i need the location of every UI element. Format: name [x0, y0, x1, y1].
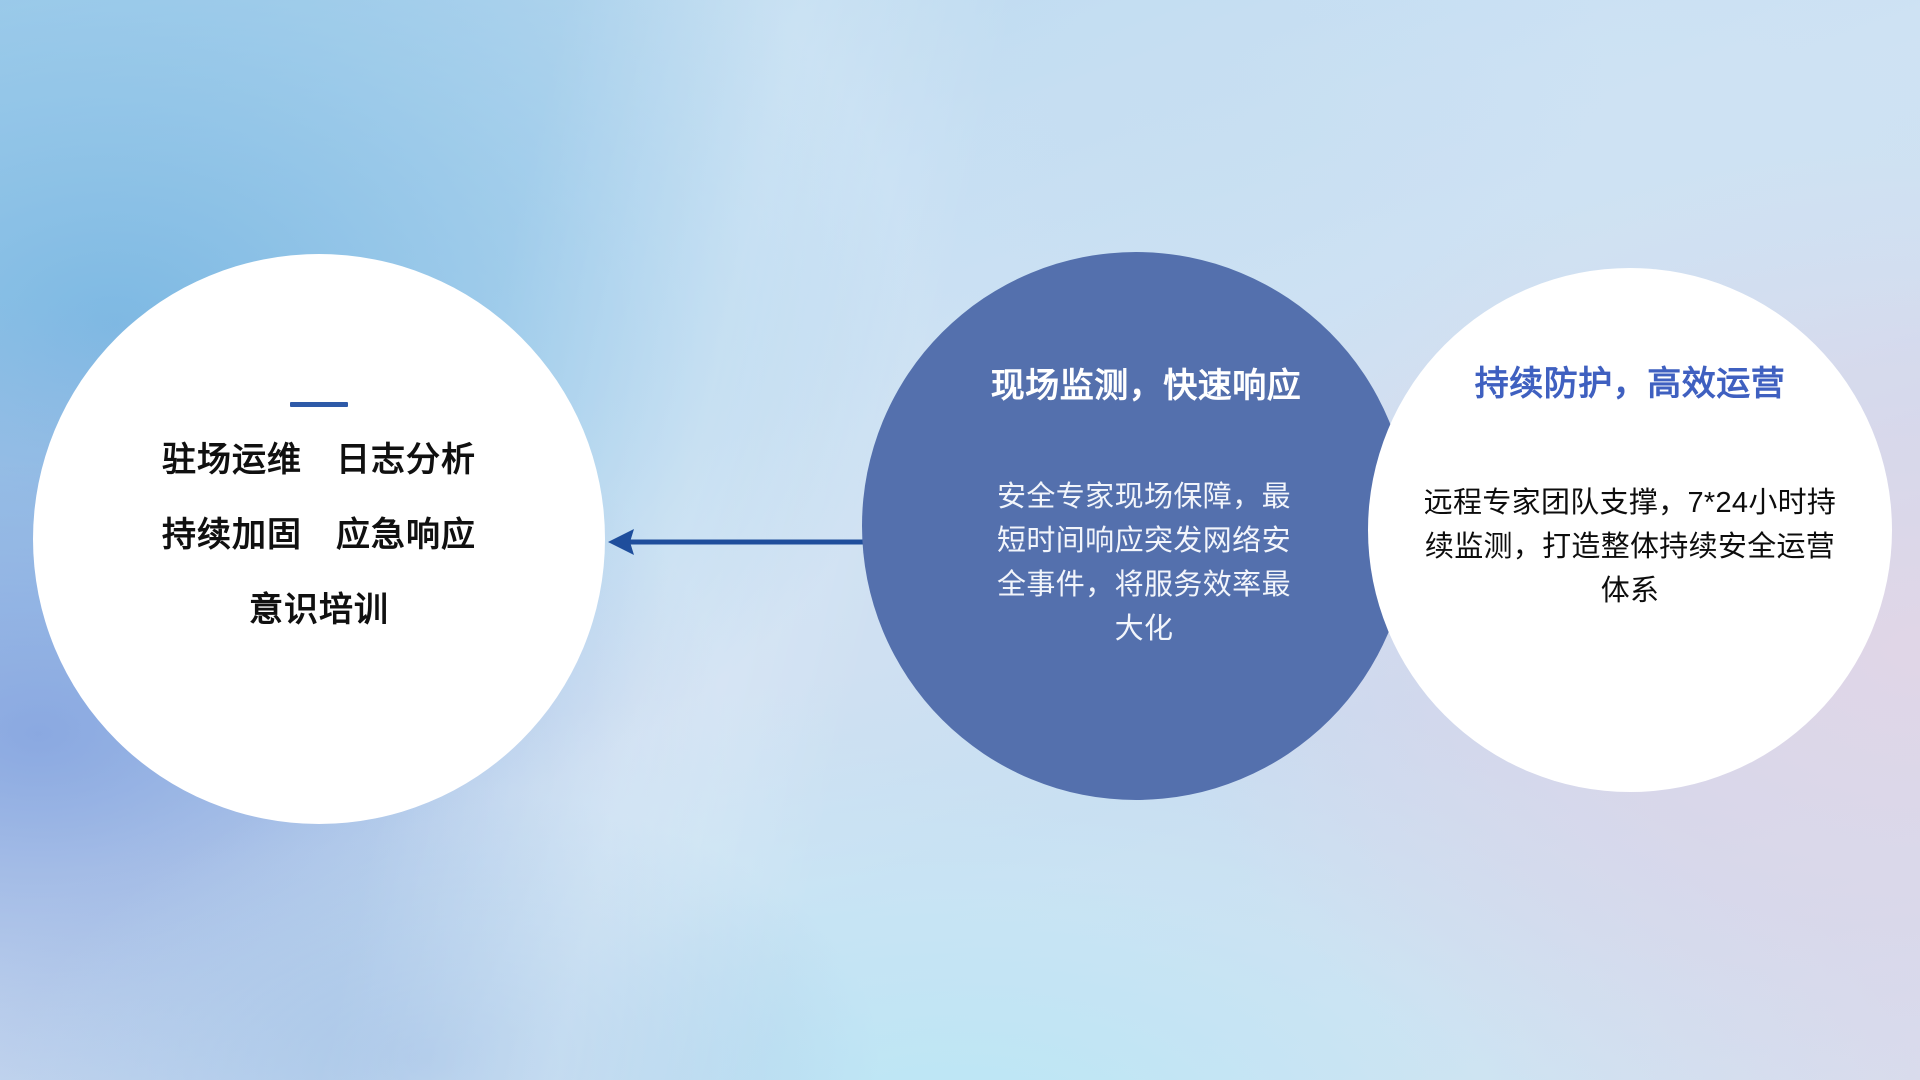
onsite-monitoring-title: 现场监测，快速响应 [991, 358, 1302, 407]
slide-canvas: 现场监测，快速响应 安全专家现场保障，最短时间响应突发网络安全事件，将服务效率最… [0, 0, 1920, 1080]
continuous-protection-body: 远程专家团队支撑，7*24小时持续监测，打造整体持续安全运营体系 [1415, 481, 1845, 613]
onsite-monitoring-body: 安全专家现场保障，最短时间响应突发网络安全事件，将服务效率最大化 [986, 475, 1302, 651]
capability-tag-row: 持续加固 应急响应 [162, 518, 476, 552]
capability-tag-row: 意识培训 [249, 593, 389, 627]
capability-tag: 持续加固 [162, 518, 302, 552]
capability-tag: 驻场运维 [162, 443, 302, 477]
capability-tag: 应急响应 [336, 518, 476, 552]
continuous-protection-content: 持续防护，高效运营 远程专家团队支撑，7*24小时持续监测，打造整体持续安全运营… [1368, 268, 1892, 792]
onsite-monitoring-content: 现场监测，快速响应 安全专家现场保障，最短时间响应突发网络安全事件，将服务效率最… [862, 252, 1410, 800]
divider-dash [290, 402, 348, 407]
capability-tags-content: 驻场运维 日志分析 持续加固 应急响应 意识培训 [33, 254, 605, 824]
capability-tag: 日志分析 [336, 443, 476, 477]
capability-tag-row: 驻场运维 日志分析 [162, 443, 476, 477]
continuous-protection-title: 持续防护，高效运营 [1475, 356, 1786, 405]
capability-tag-list: 驻场运维 日志分析 持续加固 应急响应 意识培训 [33, 443, 605, 668]
capability-tag: 意识培训 [249, 593, 389, 627]
flow-arrow-left [600, 512, 870, 572]
